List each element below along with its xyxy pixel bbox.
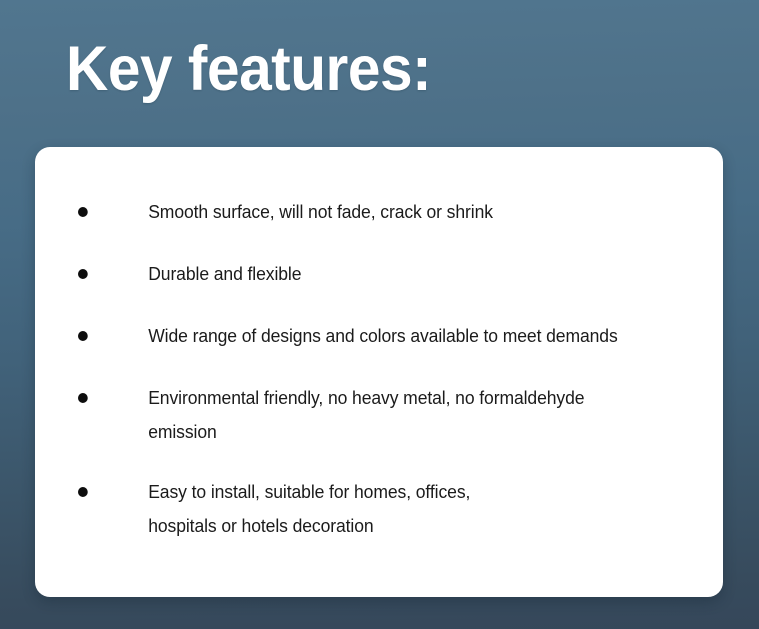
bullet-point-icon xyxy=(78,269,88,279)
page-title: Key features: xyxy=(66,36,431,103)
list-item-label: Smooth surface, will not fade, crack or … xyxy=(148,195,677,229)
list-item-label: Easy to install, suitable for homes, off… xyxy=(148,475,677,543)
bullet-point-icon xyxy=(78,331,88,341)
list-item-label: Environmental friendly, no heavy metal, … xyxy=(148,381,677,449)
list-item: Environmental friendly, no heavy metal, … xyxy=(78,381,678,449)
list-item: Wide range of designs and colors availab… xyxy=(78,319,678,353)
feature-card: Smooth surface, will not fade, crack or … xyxy=(35,147,723,597)
list-item: Easy to install, suitable for homes, off… xyxy=(78,475,678,543)
bullet-point-icon xyxy=(78,207,88,217)
bullet-point-icon xyxy=(78,487,88,497)
feature-slide: Key features: Smooth surface, will not f… xyxy=(0,0,759,629)
list-item-label: Durable and flexible xyxy=(148,257,677,291)
list-item: Smooth surface, will not fade, crack or … xyxy=(78,195,678,229)
bullet-point-icon xyxy=(78,393,88,403)
list-item: Durable and flexible xyxy=(78,257,678,291)
feature-list: Smooth surface, will not fade, crack or … xyxy=(78,195,693,543)
list-item-label: Wide range of designs and colors availab… xyxy=(148,319,677,353)
